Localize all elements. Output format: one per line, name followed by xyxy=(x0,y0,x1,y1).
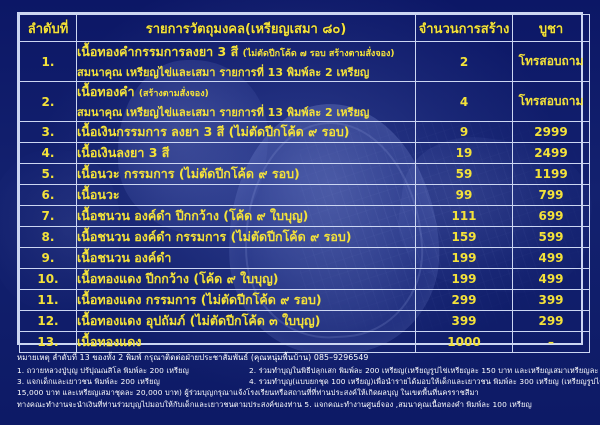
row-price: โทรสอบถาม xyxy=(513,42,590,82)
row-number: 11. xyxy=(20,290,77,311)
row-price: 2999 xyxy=(513,122,590,143)
note-item-4: 4. รวมทำบุญ(แบบยกชุด 100 เหรียญ)เพื่อนำร… xyxy=(249,376,600,387)
row-number: 2. xyxy=(20,82,77,122)
row-number: 9. xyxy=(20,248,77,269)
row-count: 199 xyxy=(416,269,513,290)
table-row: 6. เนื้อนวะ 99 799 xyxy=(20,185,590,206)
row-item: เนื้อชนวน องค์ดำ กรรมการ (ไม่ตัดปีกโค้ด … xyxy=(77,227,416,248)
row-number: 1. xyxy=(20,42,77,82)
row-item: เนื้อเงินลงยา 3 สี xyxy=(77,143,416,164)
row-count: 299 xyxy=(416,290,513,311)
row-item: เนื้อทองคำกรรมการลงยา 3 สี (ไม่ตัดปีกโค้… xyxy=(77,42,416,82)
note-continuation-1: 15,000 บาท และเหรียญเสมาชุดละ 20,000 บาท… xyxy=(17,387,589,398)
row-price: 699 xyxy=(513,206,590,227)
table-row: 1. เนื้อทองคำกรรมการลงยา 3 สี (ไม่ตัดปีก… xyxy=(20,42,590,82)
row-item-main: เนื้อนวะ xyxy=(77,187,120,202)
row-item: เนื้อทองแดง อุปถัมภ์ (ไม่ตัดปีกโค้ด ๓ ใบ… xyxy=(77,311,416,332)
row-item-note: (ไม่ตัดปีกโค้ด ๗ รอบ สร้างตามสั่งจอง) xyxy=(243,49,395,59)
row-item: เนื้อนวะ กรรมการ (ไม่ตัดปีกโค้ด ๙ รอบ) xyxy=(77,164,416,185)
row-count: 2 xyxy=(416,42,513,82)
column-header-count: จำนวนการสร้าง xyxy=(416,15,513,42)
note-item-3: 3. แจกเด็กและเยาวชน พิมพ์ละ 200 เหรียญ xyxy=(17,376,249,387)
table-row: 10. เนื้อทองแดง ปีกกว้าง (โค้ด ๙ ใบบุญ) … xyxy=(20,269,590,290)
column-header-price: บูชา xyxy=(513,15,590,42)
row-number: 4. xyxy=(20,143,77,164)
notes-heading: หมายเหตุ ลำดับที่ 13 ของทั้ง 2 พิมพ์ กรุ… xyxy=(17,352,589,364)
row-number: 13. xyxy=(20,332,77,353)
row-price: 2499 xyxy=(513,143,590,164)
row-item-main: เนื้อทองแดง ปีกกว้าง (โค้ด ๙ ใบบุญ) xyxy=(77,271,278,286)
row-count: 111 xyxy=(416,206,513,227)
row-price: 799 xyxy=(513,185,590,206)
row-item-main: เนื้อทองแดง xyxy=(77,334,141,349)
price-table-head: ลำดับที่ รายการวัตถุมงคล(เหรียญเสมา ๘๐) … xyxy=(20,15,590,42)
row-count: 159 xyxy=(416,227,513,248)
row-count: 399 xyxy=(416,311,513,332)
row-item-main: เนื้อทองคำ xyxy=(77,84,135,99)
table-row: 4. เนื้อเงินลงยา 3 สี 19 2499 xyxy=(20,143,590,164)
row-number: 3. xyxy=(20,122,77,143)
row-item-main: เนื้อทองแดง กรรมการ (ไม่ตัดปีกโค้ด ๙ รอบ… xyxy=(77,292,322,307)
row-item-note: (สร้างตามสั่งจอง) xyxy=(139,89,209,99)
row-item-main: เนื้อเงินลงยา 3 สี xyxy=(77,145,169,160)
column-header-no: ลำดับที่ xyxy=(20,15,77,42)
row-count: 9 xyxy=(416,122,513,143)
row-number: 7. xyxy=(20,206,77,227)
row-number: 8. xyxy=(20,227,77,248)
notes-row-1: 1. ถวายหลวงปู่บุญ ปรัปุณณสิโล พิมพ์ละ 20… xyxy=(17,365,589,376)
row-item: เนื้อทองคำ (สร้างตามสั่งจอง) สมนาคุณ เหร… xyxy=(77,82,416,122)
row-price: 1199 xyxy=(513,164,590,185)
row-price: 599 xyxy=(513,227,590,248)
row-item: เนื้อทองแดง ปีกกว้าง (โค้ด ๙ ใบบุญ) xyxy=(77,269,416,290)
row-count: 59 xyxy=(416,164,513,185)
table-row: 8. เนื้อชนวน องค์ดำ กรรมการ (ไม่ตัดปีกโค… xyxy=(20,227,590,248)
table-row: 7. เนื้อชนวน องค์ดำ ปีกกว้าง (โค้ด ๙ ใบบ… xyxy=(20,206,590,227)
table-row: 2. เนื้อทองคำ (สร้างตามสั่งจอง) สมนาคุณ … xyxy=(20,82,590,122)
notes-row-2: 3. แจกเด็กและเยาวชน พิมพ์ละ 200 เหรียญ 4… xyxy=(17,376,589,387)
row-number: 10. xyxy=(20,269,77,290)
row-item: เนื้อเงินกรรมการ ลงยา 3 สี (ไม่ตัดปีกโค้… xyxy=(77,122,416,143)
row-item-main: เนื้อทองแดง อุปถัมภ์ (ไม่ตัดปีกโค้ด ๓ ใบ… xyxy=(77,313,320,328)
row-price: 499 xyxy=(513,248,590,269)
note-item-2: 2. ร่วมทำบุญในพิธีปลุกเสก พิมพ์ละ 200 เห… xyxy=(249,365,600,376)
row-item-main: เนื้อนวะ กรรมการ (ไม่ตัดปีกโค้ด ๙ รอบ) xyxy=(77,166,300,181)
row-count: 199 xyxy=(416,248,513,269)
row-price: – xyxy=(513,332,590,353)
table-row: 12. เนื้อทองแดง อุปถัมภ์ (ไม่ตัดปีกโค้ด … xyxy=(20,311,590,332)
row-item-main: เนื้อเงินกรรมการ ลงยา 3 สี (ไม่ตัดปีกโค้… xyxy=(77,124,350,139)
price-table-body: 1. เนื้อทองคำกรรมการลงยา 3 สี (ไม่ตัดปีก… xyxy=(20,42,590,353)
row-price: โทรสอบถาม xyxy=(513,82,590,122)
row-item: เนื้อทองแดง xyxy=(77,332,416,353)
row-item-main: เนื้อทองคำกรรมการลงยา 3 สี xyxy=(77,44,238,59)
column-header-item: รายการวัตถุมงคล(เหรียญเสมา ๘๐) xyxy=(77,15,416,42)
note-continuation-2: ทางคณะทำงานจะนำเงินที่ท่านร่วมบุญไปมอบให… xyxy=(17,399,589,410)
row-price: 299 xyxy=(513,311,590,332)
row-item: เนื้อทองแดง กรรมการ (ไม่ตัดปีกโค้ด ๙ รอบ… xyxy=(77,290,416,311)
row-item-main: เนื้อชนวน องค์ดำ ปีกกว้าง (โค้ด ๙ ใบบุญ) xyxy=(77,208,308,223)
row-item-main: เนื้อชนวน องค์ดำ กรรมการ (ไม่ตัดปีกโค้ด … xyxy=(77,229,352,244)
price-table-container: ลำดับที่ รายการวัตถุมงคล(เหรียญเสมา ๘๐) … xyxy=(17,12,583,345)
row-item: เนื้อชนวน องค์ดำ ปีกกว้าง (โค้ด ๙ ใบบุญ) xyxy=(77,206,416,227)
row-item: เนื้อนวะ xyxy=(77,185,416,206)
row-item-sub: สมนาคุณ เหรียญไข่และเสมา รายการที่ 13 พิ… xyxy=(77,63,415,81)
row-count: 4 xyxy=(416,82,513,122)
table-row: 9. เนื้อชนวน องค์ดำ 199 499 xyxy=(20,248,590,269)
table-row: 13. เนื้อทองแดง 1000 – xyxy=(20,332,590,353)
header-row: ลำดับที่ รายการวัตถุมงคล(เหรียญเสมา ๘๐) … xyxy=(20,15,590,42)
table-row: 5. เนื้อนวะ กรรมการ (ไม่ตัดปีกโค้ด ๙ รอบ… xyxy=(20,164,590,185)
row-number: 12. xyxy=(20,311,77,332)
row-count: 1000 xyxy=(416,332,513,353)
row-price: 399 xyxy=(513,290,590,311)
row-number: 6. xyxy=(20,185,77,206)
table-row: 3. เนื้อเงินกรรมการ ลงยา 3 สี (ไม่ตัดปีก… xyxy=(20,122,590,143)
row-count: 99 xyxy=(416,185,513,206)
price-table: ลำดับที่ รายการวัตถุมงคล(เหรียญเสมา ๘๐) … xyxy=(19,14,590,353)
row-count: 19 xyxy=(416,143,513,164)
row-price: 499 xyxy=(513,269,590,290)
table-row: 11. เนื้อทองแดง กรรมการ (ไม่ตัดปีกโค้ด ๙… xyxy=(20,290,590,311)
note-item-1: 1. ถวายหลวงปู่บุญ ปรัปุณณสิโล พิมพ์ละ 20… xyxy=(17,365,249,376)
row-item-sub: สมนาคุณ เหรียญไข่และเสมา รายการที่ 13 พิ… xyxy=(77,103,415,121)
footer-notes: หมายเหตุ ลำดับที่ 13 ของทั้ง 2 พิมพ์ กรุ… xyxy=(17,352,589,410)
row-item: เนื้อชนวน องค์ดำ xyxy=(77,248,416,269)
amulet-price-list-page: ลำดับที่ รายการวัตถุมงคล(เหรียญเสมา ๘๐) … xyxy=(0,0,600,425)
row-item-main: เนื้อชนวน องค์ดำ xyxy=(77,250,171,265)
row-number: 5. xyxy=(20,164,77,185)
